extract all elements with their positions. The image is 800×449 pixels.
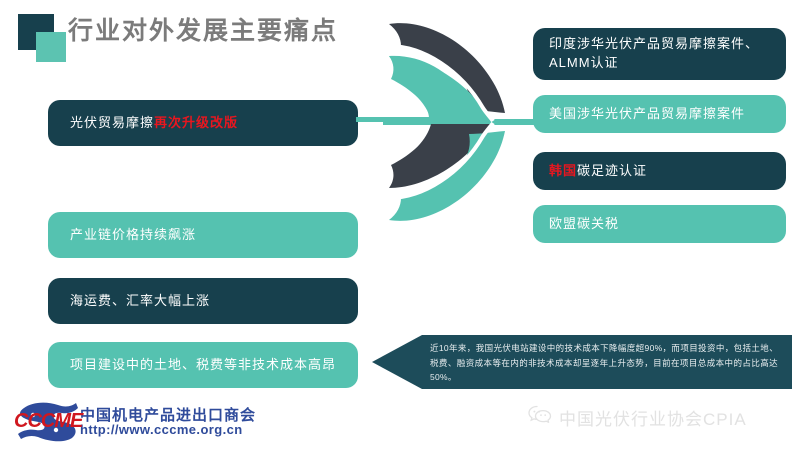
pill-text: 海运费、汇率大幅上涨 [70,292,210,311]
cccme-logo: CCCME 中国机电产品进出口商会 http://www.cccme.org.c… [8,398,258,444]
callout-banner: 近10年来，我国光伏电站建设中的技术成本下降幅度超90%，而项目投资中，包括土地… [372,333,792,391]
trade-case-pill[interactable]: 韩国碳足迹认证 [533,152,786,190]
trade-case-pill[interactable]: 美国涉华光伏产品贸易摩擦案件 [533,95,786,133]
trade-case-pill[interactable]: 印度涉华光伏产品贸易摩擦案件、ALMM认证 [533,28,786,80]
callout-text: 近10年来，我国光伏电站建设中的技术成本下降幅度超90%，而项目投资中，包括土地… [430,338,778,388]
pill-highlight-text: 韩国 [549,162,577,181]
pill-text: 欧盟碳关税 [549,215,619,234]
cccme-wordmark: CCCME [14,410,82,433]
slide-canvas: 行业对外发展主要痛点 光伏贸易摩擦再次升级改版 产业链价格持续飙涨 海运费、汇率 [0,0,800,449]
pill-text: 碳足迹认证 [577,162,647,181]
umbrella-fan-icon [383,8,543,236]
pain-point-pill[interactable]: 海运费、汇率大幅上涨 [48,278,358,324]
wechat-icon [528,405,552,430]
pain-point-pill[interactable]: 项目建设中的土地、税费等非技术成本高昂 [48,342,358,388]
pill-text: 印度涉华光伏产品贸易摩擦案件、ALMM认证 [549,35,770,73]
pill-text: 光伏贸易摩擦 [70,114,154,133]
pill-text: 产业链价格持续飙涨 [70,226,196,245]
pill-highlight-text: 再次升级改版 [154,114,238,133]
pain-point-pill[interactable]: 产业链价格持续飙涨 [48,212,358,258]
trade-case-pill[interactable]: 欧盟碳关税 [533,205,786,243]
header-square-teal-icon [36,32,66,62]
pill-connector-line [356,117,440,122]
pain-point-pill[interactable]: 光伏贸易摩擦再次升级改版 [48,100,358,146]
page-title: 行业对外发展主要痛点 [68,13,338,49]
cpia-label: 中国光伏行业协会CPIA [559,405,747,430]
pill-text: 美国涉华光伏产品贸易摩擦案件 [549,105,745,124]
cpia-watermark: 中国光伏行业协会CPIA [528,405,747,430]
pill-text: 项目建设中的土地、税费等非技术成本高昂 [70,356,336,375]
cccme-url[interactable]: http://www.cccme.org.cn [80,422,243,437]
